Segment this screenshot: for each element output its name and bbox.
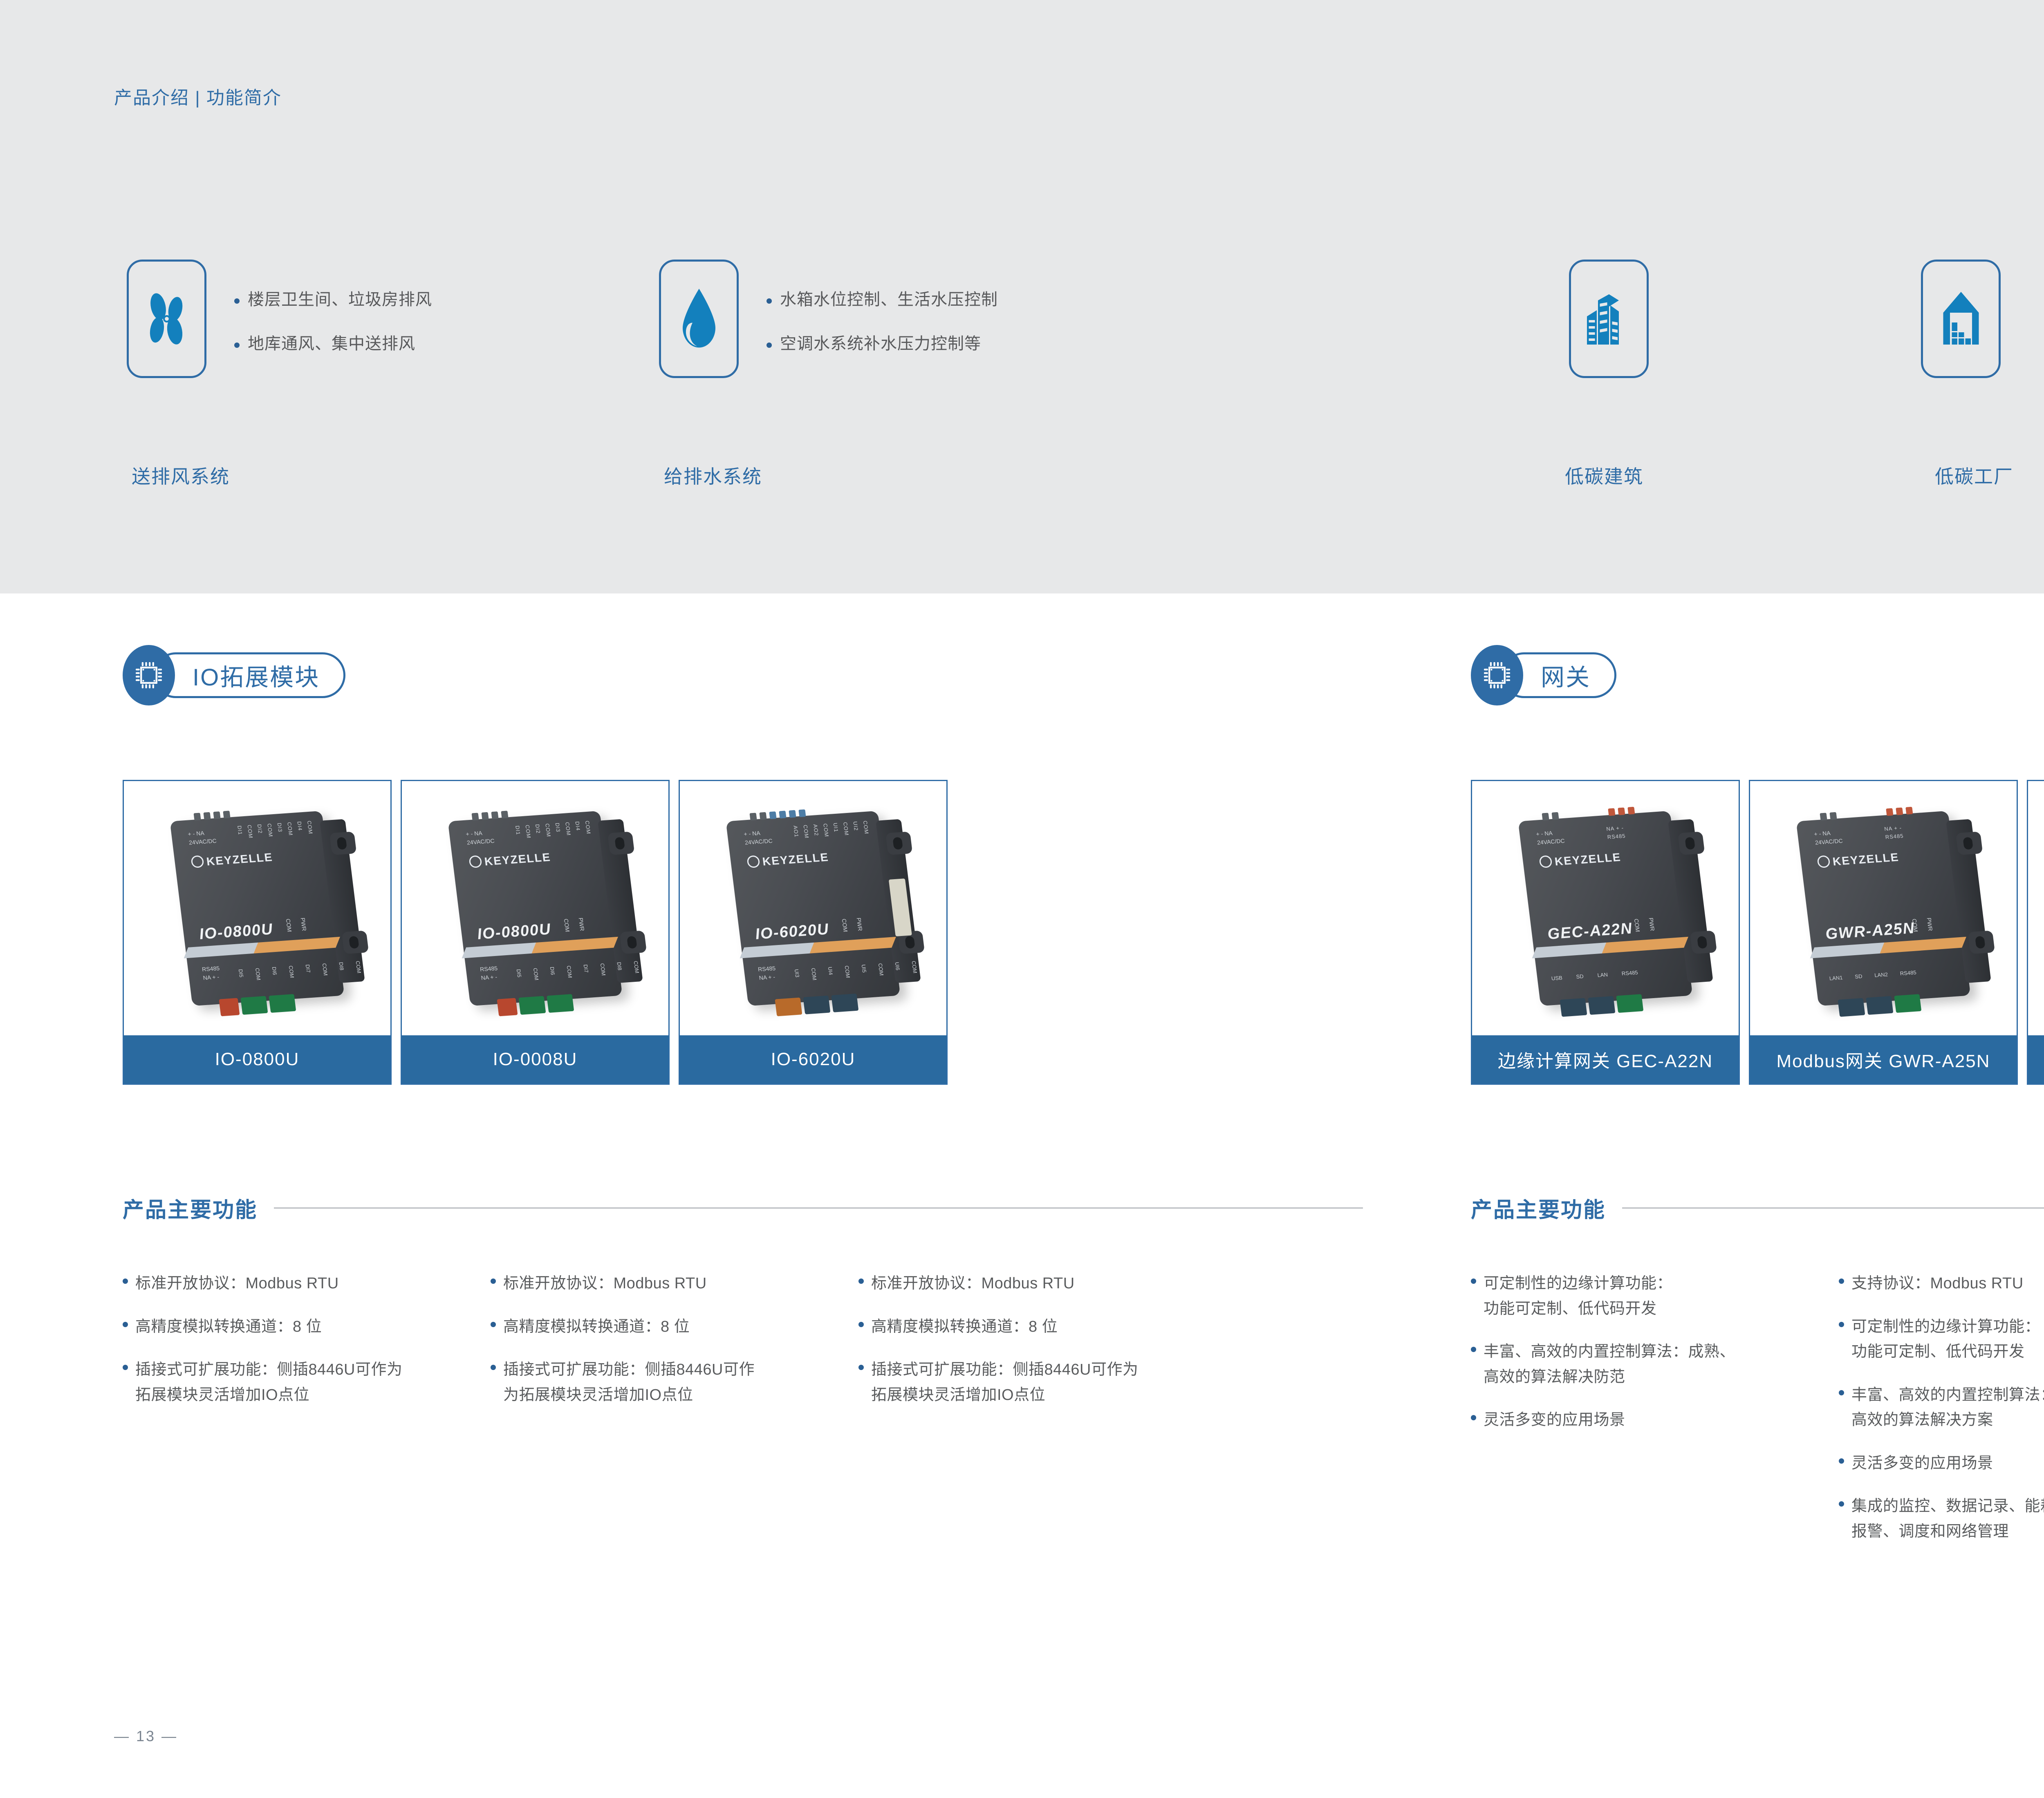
device-rs485-label: RS485 NA + - (202, 964, 221, 982)
product-image: + - NA 24VAC/DC NA + - RS485 KEYZELLE CO… (2028, 781, 2044, 1035)
bullet-text: 楼层卫生间、垃圾房排风 (248, 291, 432, 308)
bullet-dot (491, 1279, 496, 1284)
feature-text: 集成的监控、数据记录、能耗计量、报警、调度和网络管理 (1851, 1494, 2044, 1544)
feature-text: 丰富、高效的内置控制算法：成熟、高效的算法解决防范 (1484, 1339, 1735, 1390)
feature-text: 标准开放协议：Modbus RTU (503, 1271, 707, 1296)
product-card-row-io: + - NA 24VAC/DC DI1 COM DI2 COM DI3 COM … (123, 780, 948, 1085)
feature-item: 可定制性的边缘计算功能：功能可定制、低代码开发 (1839, 1314, 2044, 1365)
bullet-dot (858, 1279, 864, 1284)
product-image: + - NA 24VAC/DC AO1 COM AO2 COM UI1 COM … (680, 781, 946, 1035)
device-rs485-label: RS485 NA + - (480, 964, 499, 982)
feature-item: 标准开放协议：Modbus RTU (123, 1271, 491, 1296)
product-card-label: Mbus 网关 GWR-A211 (2028, 1035, 2044, 1084)
product-card-label: 边缘计算网关 GEC-A22N (1472, 1035, 1739, 1084)
features-columns-gateways: 可定制性的边缘计算功能： 功能可定制、低代码开发 丰富、高效的内置控制算法：成熟… (1471, 1271, 2044, 1562)
feature-text: 标准开放协议：Modbus RTU (135, 1271, 339, 1296)
scenario-caption-ventilation: 送排风系统 (132, 462, 230, 489)
scenario-ventilation: 楼层卫生间、垃圾房排风 地库通风、集中送排风 (127, 260, 432, 380)
page-folio-left: — 13 — (114, 1728, 178, 1745)
feature-text: 插接式可扩展功能：侧插8446U可作为拓展模块灵活增加IO点位 (503, 1357, 755, 1408)
device-photo-io-6020u: + - NA 24VAC/DC AO1 COM AO2 COM UI1 COM … (726, 811, 900, 1006)
device-led-labels: COM PWR (285, 917, 308, 932)
product-image: + - NA 24VAC/DC DI1 COM DI2 COM DI3 COM … (402, 781, 668, 1035)
device-photo-io-0800u: + - NA 24VAC/DC DI1 COM DI2 COM DI3 COM … (170, 811, 344, 1006)
water-drop-icon (672, 286, 726, 352)
section-pill-gateways[interactable]: 网关 (1471, 645, 1616, 705)
features-column: 标准开放协议：Modbus RTU 高精度模拟转换通道：8 位 插接式可扩展功能… (491, 1271, 858, 1426)
features-heading-gateways: 产品主要功能 (1471, 1193, 2044, 1223)
application-icon-box-factory (1921, 260, 2001, 378)
features-rule (274, 1207, 1363, 1209)
bullet-dot (123, 1279, 128, 1284)
scenario-bullets-ventilation: 楼层卫生间、垃圾房排风 地库通风、集中送排风 (234, 260, 432, 380)
features-title: 产品主要功能 (123, 1193, 258, 1223)
features-heading-io: 产品主要功能 (123, 1193, 1363, 1223)
product-card-label: Modbus网关 GWR-A25N (1750, 1035, 2017, 1084)
feature-text: 丰富、高效的内置控制算法：成熟、高效的算法解决方案 (1851, 1383, 2044, 1433)
product-image: + - NA 24VAC/DC DI1 COM DI2 COM DI3 COM … (124, 781, 390, 1035)
features-title: 产品主要功能 (1471, 1193, 1606, 1223)
section-pill-label: IO拓展模块 (193, 658, 320, 692)
factory-icon (1937, 288, 1985, 349)
features-column: 可定制性的边缘计算功能： 功能可定制、低代码开发 丰富、高效的内置控制算法：成熟… (1471, 1271, 1839, 1562)
application-low-carbon-factory (1921, 260, 2001, 378)
feature-item: 高精度模拟转换通道：8 位 (858, 1314, 1226, 1340)
bullet-dot (123, 1322, 128, 1327)
feature-text: 高精度模拟转换通道：8 位 (871, 1314, 1058, 1340)
bullet-dot (1839, 1390, 1844, 1395)
product-image: + - NA 24VAC/DC NA + - RS485 KEYZELLE CO… (1750, 781, 2017, 1035)
section-pill-label: 网关 (1541, 658, 1591, 692)
scenario-bullet: 楼层卫生间、垃圾房排风 (234, 291, 432, 308)
running-header-left: 产品介绍 | 功能简介 (114, 83, 282, 109)
features-columns-io: 标准开放协议：Modbus RTU 高精度模拟转换通道：8 位 插接式可扩展功能… (123, 1271, 1226, 1426)
feature-item: 支持协议：Modbus RTU (1839, 1271, 2044, 1296)
feature-item: 丰富、高效的内置控制算法：成熟、高效的算法解决方案 (1839, 1383, 2044, 1433)
feature-item: 标准开放协议：Modbus RTU (491, 1271, 858, 1296)
product-card[interactable]: + - NA 24VAC/DC AO1 COM AO2 COM UI1 COM … (679, 780, 948, 1085)
feature-text: 插接式可扩展功能：侧插8446U可作为拓展模块灵活增加IO点位 (871, 1357, 1138, 1408)
product-card-label: IO-0008U (402, 1035, 668, 1084)
feature-text: 标准开放协议：Modbus RTU (871, 1271, 1075, 1296)
device-led-labels: COM PWR (841, 917, 864, 932)
application-low-carbon-building (1569, 260, 1649, 378)
bullet-dot (1839, 1279, 1844, 1284)
product-card[interactable]: + - NA 24VAC/DC NA + - RS485 KEYZELLE CO… (1471, 780, 1740, 1085)
feature-text: 高精度模拟转换通道：8 位 (503, 1314, 690, 1340)
bullet-dot (766, 343, 772, 348)
bullet-dot (1471, 1415, 1476, 1420)
feature-item: 灵活多变的应用场景 (1471, 1408, 1839, 1433)
device-photo-io-0008u: + - NA 24VAC/DC DI1 COM DI2 COM DI3 COM … (448, 811, 622, 1006)
application-caption-building: 低碳建筑 (1565, 462, 1643, 489)
product-card-label: IO-0800U (124, 1035, 390, 1084)
bullet-dot (491, 1365, 496, 1370)
feature-item: 可定制性的边缘计算功能： 功能可定制、低代码开发 (1471, 1271, 1839, 1321)
section-pill-io-modules[interactable]: IO拓展模块 (123, 645, 345, 705)
feature-text: 可定制性的边缘计算功能：功能可定制、低代码开发 (1851, 1314, 2040, 1365)
bullet-dot (1839, 1501, 1844, 1507)
section-pill-body-io-modules: IO拓展模块 (153, 652, 345, 698)
scenario-caption-water: 给排水系统 (664, 462, 762, 489)
scenario-bullet: 空调水系统补水压力控制等 (766, 336, 998, 352)
bullet-dot (234, 343, 240, 348)
bullet-dot (234, 298, 240, 304)
feature-item: 插接式可扩展功能：侧插8446U可作为拓展模块灵活增加IO点位 (123, 1357, 491, 1408)
device-photo-gwr-a25n: + - NA 24VAC/DC NA + - RS485 KEYZELLE CO… (1796, 811, 1970, 1006)
feature-item: 高精度模拟转换通道：8 位 (123, 1314, 491, 1340)
chip-icon (123, 645, 175, 705)
device-led-labels: COM PWR (1633, 917, 1656, 932)
feature-item: 标准开放协议：Modbus RTU (858, 1271, 1226, 1296)
application-icon-box-building (1569, 260, 1649, 378)
bullet-text: 水箱水位控制、生活水压控制 (780, 291, 998, 308)
bullet-dot (491, 1322, 496, 1327)
scenario-bullet: 水箱水位控制、生活水压控制 (766, 291, 998, 308)
scenario-icon-box-ventilation (127, 260, 206, 378)
scenario-bullets-water: 水箱水位控制、生活水压控制 空调水系统补水压力控制等 (766, 260, 998, 380)
scenario-icon-box-water (659, 260, 739, 378)
feature-text: 支持协议：Modbus RTU (1851, 1271, 2024, 1296)
feature-text: 插接式可扩展功能：侧插8446U可作为拓展模块灵活增加IO点位 (135, 1357, 402, 1408)
bullet-dot (858, 1322, 864, 1327)
feature-item: 灵活多变的应用场景 (1839, 1451, 2044, 1476)
device-power-label: + - NA 24VAC/DC (1535, 828, 1565, 847)
features-rule (1622, 1207, 2044, 1209)
device-power-label: + - NA 24VAC/DC (187, 828, 217, 847)
bullet-text: 空调水系统补水压力控制等 (780, 336, 981, 352)
features-column: 标准开放协议：Modbus RTU 高精度模拟转换通道：8 位 插接式可扩展功能… (123, 1271, 491, 1426)
feature-text: 高精度模拟转换通道：8 位 (135, 1314, 322, 1340)
fan-icon (136, 288, 197, 349)
brochure-page: 产品介绍 | 功能简介 产品介绍 | 功能简介 (0, 0, 2044, 1798)
bullet-dot (1471, 1347, 1476, 1352)
feature-text: 灵活多变的应用场景 (1851, 1451, 1993, 1476)
product-card[interactable]: + - NA 24VAC/DC DI1 COM DI2 COM DI3 COM … (123, 780, 392, 1085)
feature-item: 插接式可扩展功能：侧插8446U可作为拓展模块灵活增加IO点位 (858, 1357, 1226, 1408)
device-power-label: + - NA 24VAC/DC (465, 828, 495, 847)
features-column: 标准开放协议：Modbus RTU 高精度模拟转换通道：8 位 插接式可扩展功能… (858, 1271, 1226, 1426)
features-column: 支持协议：Modbus RTU 可定制性的边缘计算功能：功能可定制、低代码开发 … (1839, 1271, 2044, 1562)
product-card-row-gateways: + - NA 24VAC/DC NA + - RS485 KEYZELLE CO… (1471, 780, 2044, 1085)
feature-item: 高精度模拟转换通道：8 位 (491, 1314, 858, 1340)
feature-item: 丰富、高效的内置控制算法：成熟、高效的算法解决防范 (1471, 1339, 1839, 1390)
feature-text: 可定制性的边缘计算功能： 功能可定制、低代码开发 (1484, 1271, 1672, 1321)
chip-icon (1471, 645, 1523, 705)
product-card[interactable]: + - NA 24VAC/DC NA + - RS485 KEYZELLE CO… (2027, 780, 2044, 1085)
bullet-dot (858, 1365, 864, 1370)
scenario-bullet: 地库通风、集中送排风 (234, 336, 432, 352)
product-card[interactable]: + - NA 24VAC/DC NA + - RS485 KEYZELLE CO… (1749, 780, 2018, 1085)
feature-item: 集成的监控、数据记录、能耗计量、报警、调度和网络管理 (1839, 1494, 2044, 1544)
product-card[interactable]: + - NA 24VAC/DC DI1 COM DI2 COM DI3 COM … (401, 780, 670, 1085)
bullet-dot (1839, 1322, 1844, 1327)
bullet-text: 地库通风、集中送排风 (248, 336, 415, 352)
device-power-label: + - NA 24VAC/DC (1813, 828, 1843, 847)
feature-item: 插接式可扩展功能：侧插8446U可作为拓展模块灵活增加IO点位 (491, 1357, 858, 1408)
device-led-labels: COM PWR (563, 917, 586, 932)
bullet-dot (1471, 1279, 1476, 1284)
device-rs485-label: RS485 NA + - (758, 964, 777, 982)
bullet-dot (1839, 1458, 1844, 1464)
office-building-icon (1583, 288, 1635, 349)
scenario-water: 水箱水位控制、生活水压控制 空调水系统补水压力控制等 (659, 260, 998, 380)
product-card-label: IO-6020U (680, 1035, 946, 1084)
bullet-dot (123, 1365, 128, 1370)
device-power-label: + - NA 24VAC/DC (743, 828, 773, 847)
bullet-dot (766, 298, 772, 304)
device-photo-gec-a22n: + - NA 24VAC/DC NA + - RS485 KEYZELLE CO… (1518, 811, 1692, 1006)
feature-text: 灵活多变的应用场景 (1484, 1408, 1625, 1433)
product-image: + - NA 24VAC/DC NA + - RS485 KEYZELLE CO… (1472, 781, 1739, 1035)
application-caption-factory: 低碳工厂 (1935, 462, 2013, 489)
